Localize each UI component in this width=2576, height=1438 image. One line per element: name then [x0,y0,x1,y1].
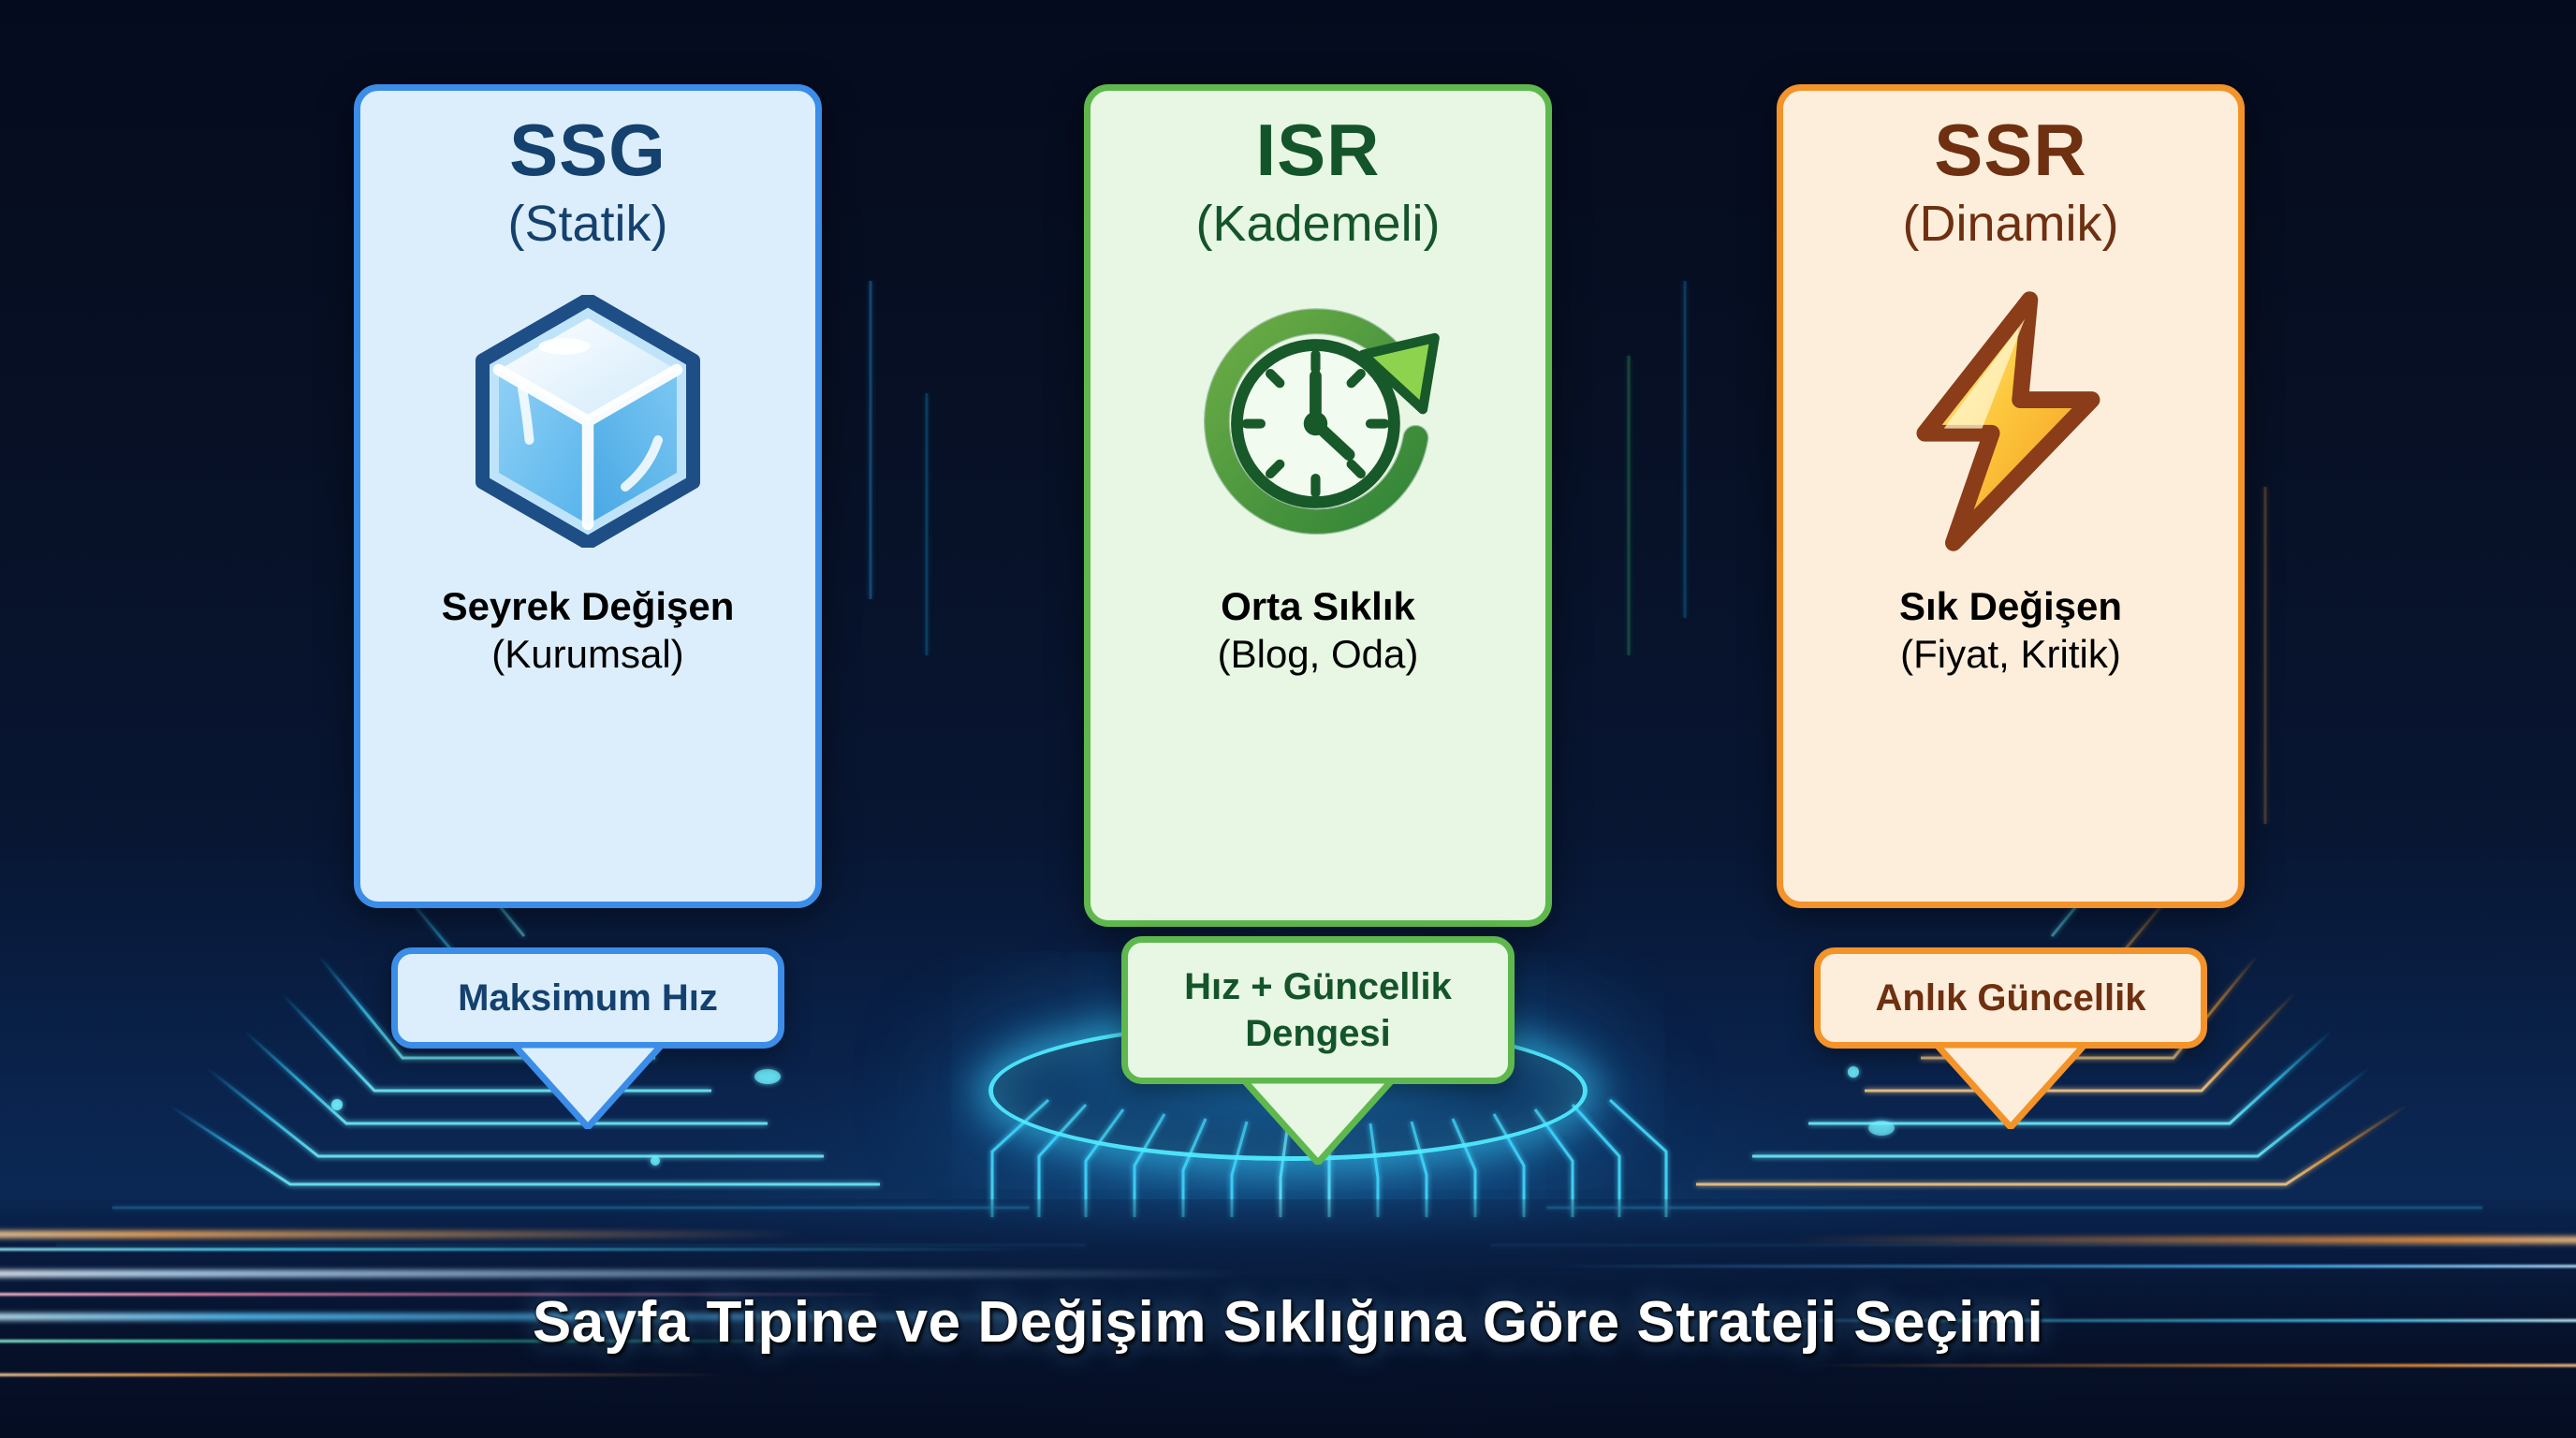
card-desc-sub-isr: (Blog, Oda) [1218,630,1419,678]
card-ssg[interactable]: SSG (Statik) [354,84,822,908]
card-desc-ssg: Seyrek Değişen (Kurumsal) [442,582,735,678]
clock-refresh-icon [1187,281,1449,562]
badge-wrap-ssg: Maksimum Hız [354,947,822,1129]
card-isr[interactable]: ISR (Kademeli) [1084,84,1552,927]
card-desc-sub-ssr: (Fiyat, Kritik) [1899,630,2122,678]
card-desc-isr: Orta Sıklık (Blog, Oda) [1218,582,1419,678]
card-title-ssg: SSG [509,115,666,185]
card-desc-main-ssg: Seyrek Değişen [442,584,735,628]
column-ssg: SSG (Statik) [354,84,822,908]
card-subtitle-ssr: (Dinamik) [1902,195,2118,255]
ice-cube-icon [466,281,710,562]
card-desc-sub-ssg: (Kurumsal) [442,630,735,678]
card-subtitle-ssg: (Statik) [507,195,667,255]
bottom-banner: Sayfa Tipine ve Değişim Sıklığına Göre S… [0,1199,2576,1438]
pointer-down-icon-isr [1238,1078,1398,1165]
card-subtitle-isr: (Kademeli) [1195,195,1440,255]
card-desc-ssr: Sık Değişen (Fiyat, Kritik) [1899,582,2122,678]
pointer-down-icon-ssr [1931,1043,2090,1129]
card-title-ssr: SSR [1934,115,2086,185]
lightning-bolt-icon [1903,281,2118,562]
banner-title: Sayfa Tipine ve Değişim Sıklığına Göre S… [0,1289,2576,1356]
pointer-down-icon-ssg [508,1043,667,1129]
badge-ssr[interactable]: Anlık Güncellik [1814,947,2207,1049]
card-desc-main-isr: Orta Sıklık [1221,584,1415,628]
card-desc-main-ssr: Sık Değişen [1899,584,2122,628]
badge-ssg[interactable]: Maksimum Hız [391,947,784,1049]
column-isr: ISR (Kademeli) [1084,84,1552,927]
badge-isr[interactable]: Hız + Güncellik Dengesi [1121,936,1515,1084]
column-ssr: SSR (Dinamik) Sık Değişen [1777,84,2245,908]
card-title-isr: ISR [1255,115,1380,185]
badge-wrap-isr: Hız + Güncellik Dengesi [1084,936,1552,1165]
badge-wrap-ssr: Anlık Güncellik [1777,947,2245,1129]
card-ssr[interactable]: SSR (Dinamik) Sık Değişen [1777,84,2245,908]
